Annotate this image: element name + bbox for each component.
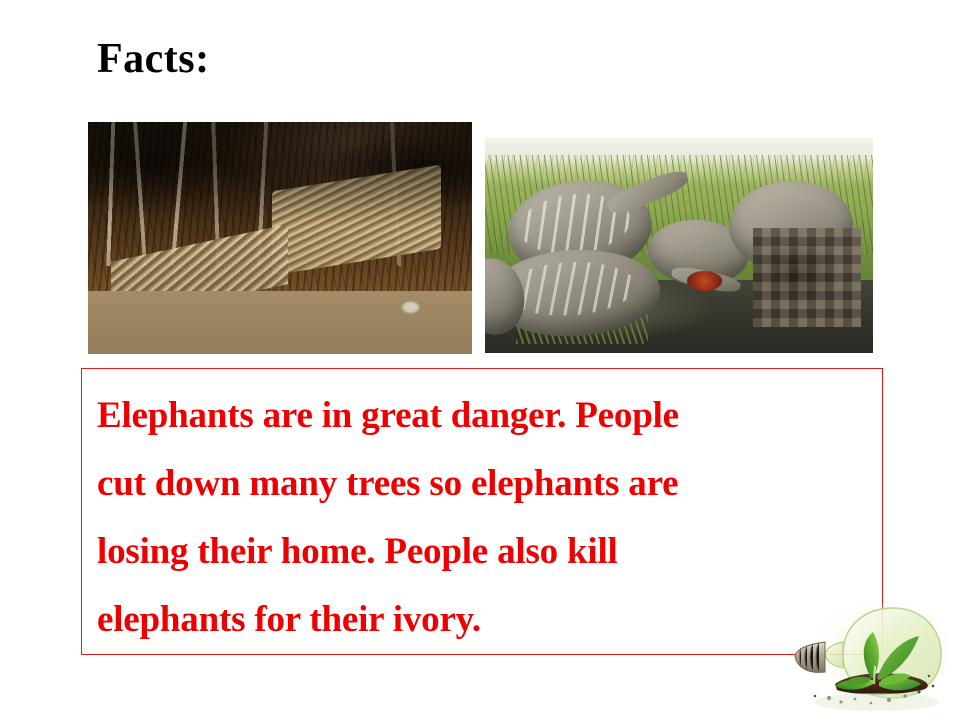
plant-stem: [874, 666, 875, 684]
deforestation-shading: [88, 122, 472, 354]
green-energy-bulb-logo: [785, 598, 960, 720]
fact-text: Elephants are in great danger. People cu…: [97, 382, 877, 654]
page-title: Facts:: [97, 38, 210, 80]
deforestation-photo: [88, 122, 472, 354]
slide-canvas: Facts: Elephants are in great danger. Pe…: [0, 0, 960, 720]
poached-elephants-photo: [485, 138, 873, 353]
logo-shadow: [815, 693, 939, 711]
elephants-shading: [485, 138, 873, 353]
